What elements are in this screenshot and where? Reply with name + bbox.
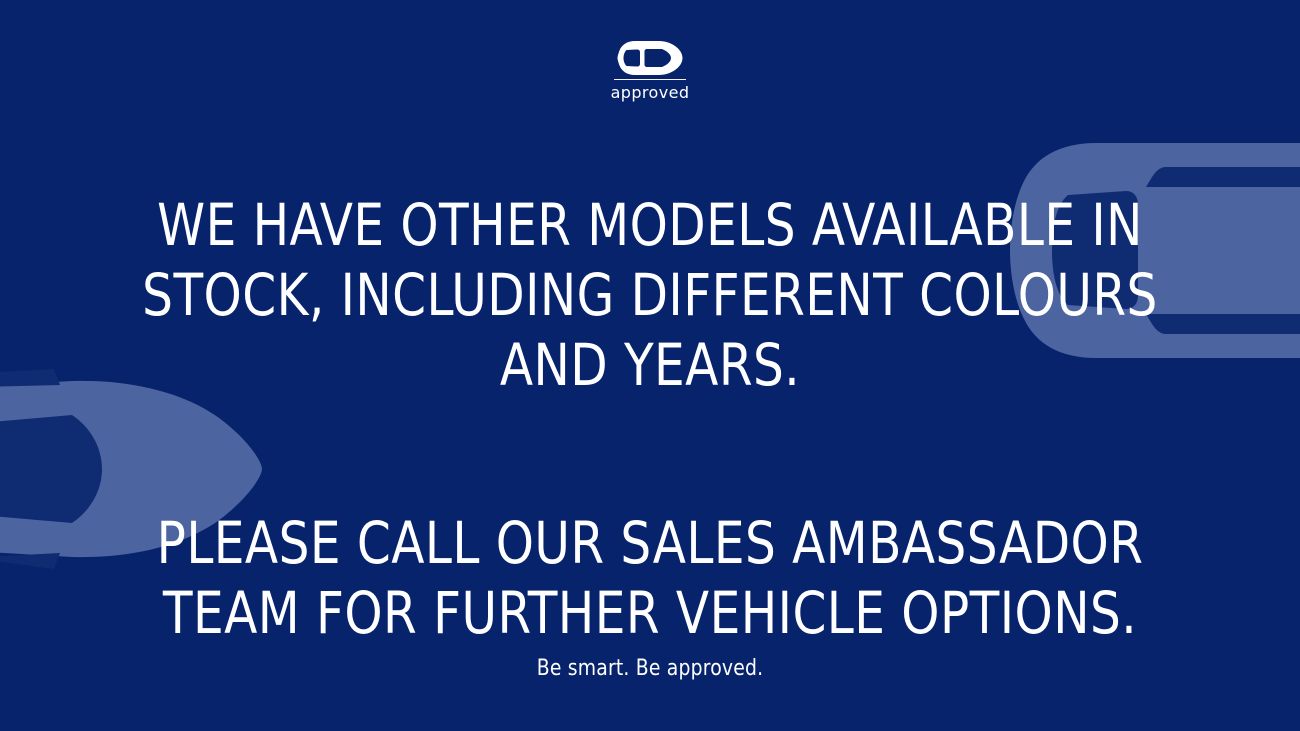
message-paragraph-2: PLEASE CALL OUR SALES AMBASSADOR TEAM FO… [125,508,1176,648]
message-block: WE HAVE OTHER MODELS AVAILABLE IN STOCK,… [85,190,1215,648]
brand-wordmark: approved [611,85,690,101]
logo-divider [614,79,686,80]
brand-logo-lockup: approved [0,40,1300,101]
car-top-view-icon [617,40,683,76]
promo-slide: approved WE HAVE OTHER MODELS AVAILABLE … [0,0,1300,731]
brand-tagline: Be smart. Be approved. [33,655,1268,683]
message-paragraph-1: WE HAVE OTHER MODELS AVAILABLE IN STOCK,… [125,190,1176,400]
